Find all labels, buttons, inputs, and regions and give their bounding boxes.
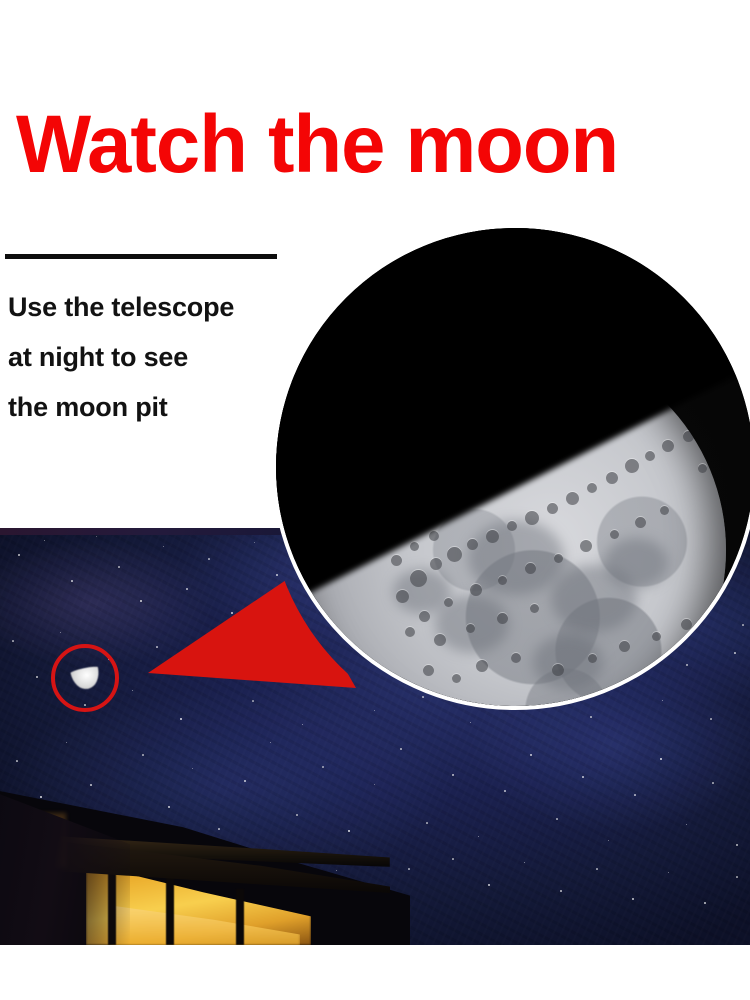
lunar-crater <box>645 451 655 461</box>
lunar-crater <box>587 483 597 493</box>
subtitle-line-1: Use the telescope <box>8 282 298 332</box>
lunar-crater <box>681 619 692 630</box>
lunar-crater <box>498 576 507 585</box>
moon-disc <box>306 340 726 710</box>
lunar-crater <box>660 506 669 515</box>
moon-locator-circle <box>51 644 119 712</box>
subtitle-line-3: the moon pit <box>8 382 298 432</box>
lunar-crater <box>434 634 446 646</box>
page-title: Watch the moon <box>16 104 598 186</box>
lunar-crater <box>476 660 488 672</box>
lunar-crater <box>610 530 619 539</box>
lunar-crater <box>662 440 674 452</box>
lunar-mare <box>468 520 564 595</box>
lunar-crater <box>467 539 478 550</box>
lunar-crater <box>419 611 430 622</box>
lunar-crater <box>554 554 563 563</box>
subtitle-block: Use the telescope at night to see the mo… <box>8 282 298 432</box>
lunar-crater <box>698 464 707 473</box>
title-divider <box>5 254 277 259</box>
lunar-crater <box>530 604 539 613</box>
lunar-crater <box>619 641 630 652</box>
lunar-crater <box>452 674 461 683</box>
lunar-crater <box>525 511 539 525</box>
lunar-crater <box>566 492 579 505</box>
lunar-crater <box>430 558 442 570</box>
magnified-moon-circle <box>272 224 750 710</box>
lunar-crater <box>511 653 521 663</box>
lunar-crater <box>606 472 618 484</box>
subtitle-line-2: at night to see <box>8 332 298 382</box>
lunar-crater <box>396 590 409 603</box>
poster-root: Watch the moon Use the telescope at nigh… <box>0 0 750 1000</box>
lunar-crater <box>497 613 508 624</box>
lunar-crater <box>588 654 597 663</box>
lunar-crater <box>444 598 453 607</box>
lunar-crater <box>429 531 439 541</box>
lunar-crater <box>466 624 475 633</box>
lunar-crater <box>423 665 434 676</box>
lunar-crater <box>652 632 661 641</box>
lunar-crater <box>410 570 427 587</box>
lunar-mare <box>604 538 668 588</box>
lunar-crater <box>525 563 536 574</box>
lunar-crater <box>507 521 517 531</box>
lunar-crater <box>635 517 646 528</box>
lunar-crater <box>683 431 694 442</box>
lunar-crater <box>447 547 462 562</box>
lunar-crater <box>547 503 558 514</box>
lunar-crater <box>405 627 415 637</box>
lunar-crater <box>391 555 402 566</box>
lunar-crater <box>470 584 482 596</box>
lunar-crater <box>486 530 499 543</box>
lunar-crater <box>580 540 592 552</box>
lunar-crater <box>552 664 564 676</box>
lunar-crater <box>625 459 639 473</box>
lunar-crater <box>410 542 419 551</box>
